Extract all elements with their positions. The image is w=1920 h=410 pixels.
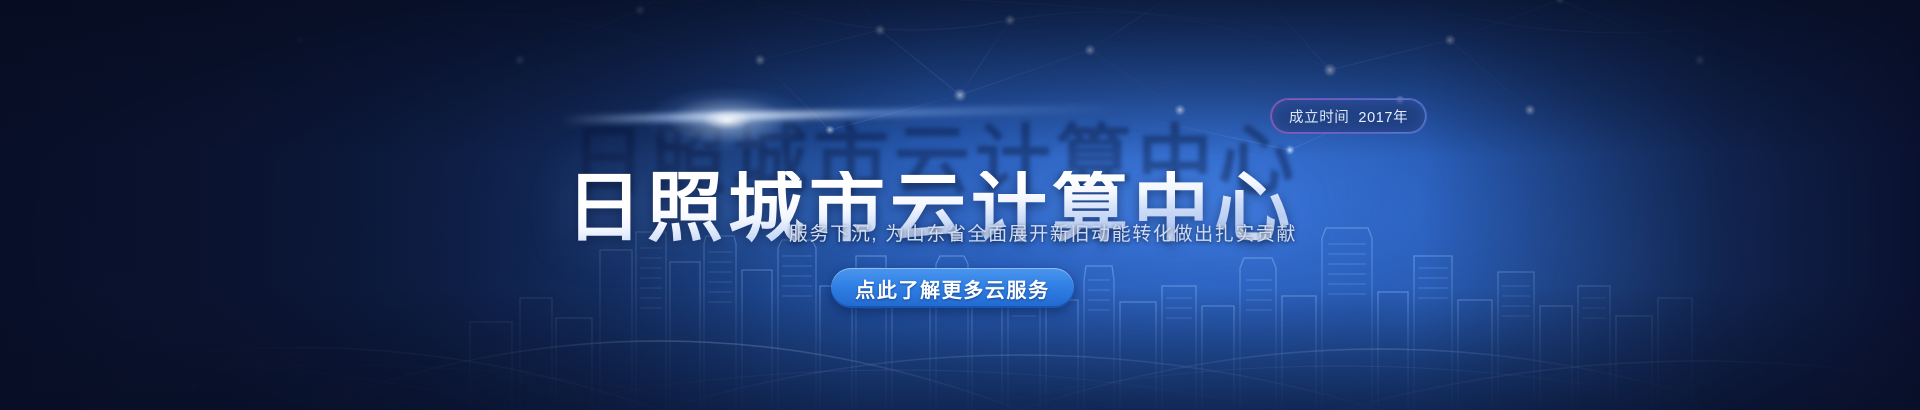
- hero-banner: 成立时间 2017年 日照城市云计算中心 日照城市云计算中心 服务下沉, 为山东…: [0, 0, 1920, 410]
- page-subtitle: 服务下沉, 为山东省全面展开新旧动能转化做出扎实贡献: [0, 219, 1920, 246]
- badge-year: 2017年: [1358, 106, 1408, 127]
- learn-more-cloud-services-button[interactable]: 点此了解更多云服务: [831, 268, 1074, 308]
